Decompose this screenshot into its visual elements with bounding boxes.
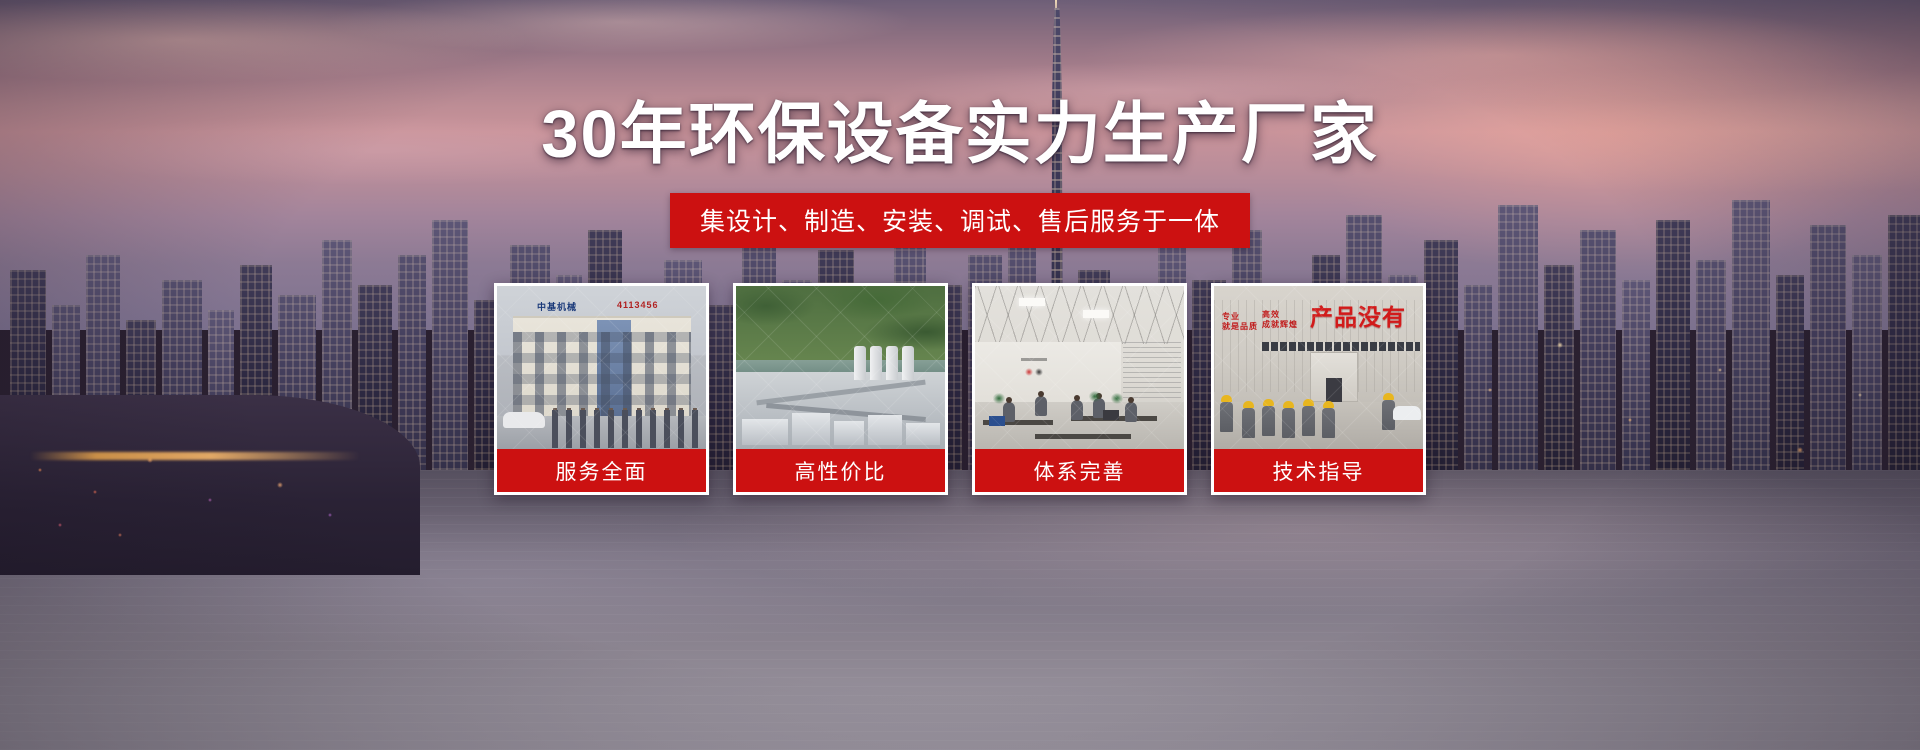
card-photo-headquarters: 中基机械 4113456 — [497, 286, 706, 449]
card-photo-office — [975, 286, 1184, 449]
subtitle-banner-wrap: 集设计、制造、安装、调试、售后服务于一体 — [0, 193, 1920, 248]
card-photo-factory: 产品没有 专业就是品质 高效成就辉煌 — [1214, 286, 1423, 449]
factory-banner-text: 产品没有 — [1310, 298, 1406, 332]
feature-card-row: 中基机械 4113456 服务全面 — [0, 283, 1920, 495]
feature-card-1[interactable]: 中基机械 4113456 服务全面 — [494, 283, 709, 495]
feature-card-3[interactable]: 体系完善 — [972, 283, 1187, 495]
photo-logo-text: 中基机械 — [537, 300, 577, 313]
page-title: 30年环保设备实力生产厂家 — [0, 100, 1920, 170]
factory-slogan-left: 专业就是品质 — [1222, 312, 1258, 333]
feature-card-2[interactable]: 高性价比 — [733, 283, 948, 495]
subtitle-banner: 集设计、制造、安装、调试、售后服务于一体 — [670, 193, 1250, 248]
card-label-3: 体系完善 — [975, 449, 1184, 492]
factory-slogan-right: 高效成就辉煌 — [1262, 310, 1298, 331]
card-label-1: 服务全面 — [497, 449, 706, 492]
card-photo-plant — [736, 286, 945, 449]
card-label-4: 技术指导 — [1214, 449, 1423, 492]
hero-banner: 30年环保设备实力生产厂家 集设计、制造、安装、调试、售后服务于一体 中基机械 … — [0, 0, 1920, 750]
feature-card-4[interactable]: 产品没有 专业就是品质 高效成就辉煌 技术指导 — [1211, 283, 1426, 495]
card-label-2: 高性价比 — [736, 449, 945, 492]
photo-number-text: 4113456 — [617, 300, 659, 310]
